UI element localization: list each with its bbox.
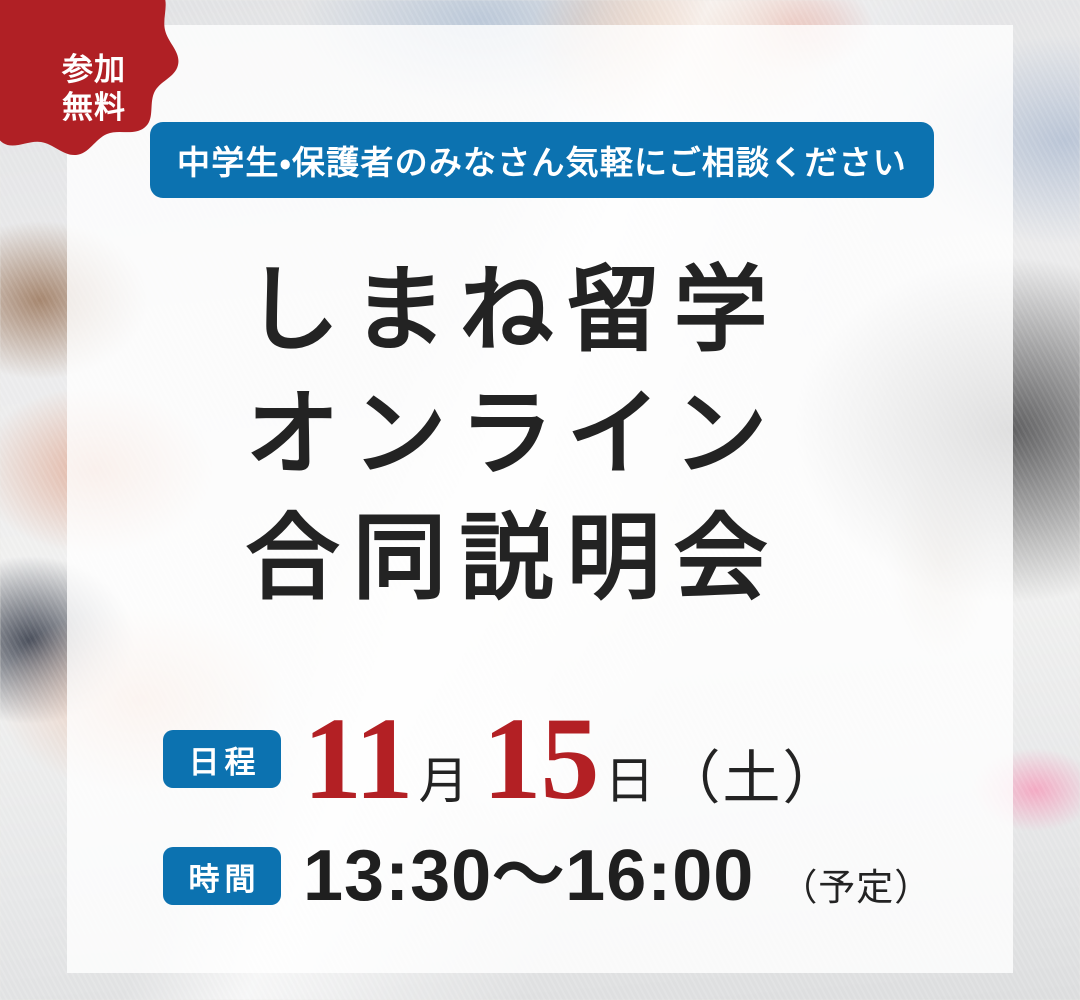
date-label-badge: 日程 — [163, 730, 281, 788]
page-title: しまね留学 オンライン 合同説明会 — [0, 248, 1013, 620]
event-day-unit: 日 — [605, 756, 655, 806]
event-date-value: 11 月 15 日 （土） — [303, 700, 843, 818]
event-day-number: 15 — [483, 700, 599, 818]
audience-ribbon-text: 中学生・保護者のみなさん気軽にご相談ください — [177, 136, 907, 184]
event-month-number: 11 — [303, 700, 413, 818]
audience-ribbon-banner: 中学生・保護者のみなさん気軽にご相談ください — [150, 122, 934, 198]
time-label-badge: 時間 — [163, 847, 281, 905]
event-time-note: （予定） — [780, 869, 932, 906]
scalloped-seal-icon — [0, 0, 188, 178]
title-line-3: 合同説明会 — [0, 496, 1013, 620]
event-weekday: （土） — [663, 750, 843, 808]
event-time-value: 13:30〜16:00 （予定） — [303, 840, 932, 912]
event-details: 日程 11 月 15 日 （土） 時間 13:30〜16:00 （予定） — [163, 700, 993, 912]
event-month-unit: 月 — [419, 756, 469, 806]
event-date-row: 日程 11 月 15 日 （土） — [163, 700, 993, 818]
poster-canvas: 中学生・保護者のみなさん気軽にご相談ください しまね留学 オンライン 合同説明会… — [0, 0, 1080, 1000]
title-line-2: オンライン — [0, 372, 1013, 496]
event-time-row: 時間 13:30〜16:00 （予定） — [163, 840, 993, 912]
title-line-1: しまね留学 — [0, 248, 1013, 372]
free-participation-seal: 参加 無料 — [0, 0, 188, 178]
event-time-range: 13:30〜16:00 — [303, 840, 754, 912]
